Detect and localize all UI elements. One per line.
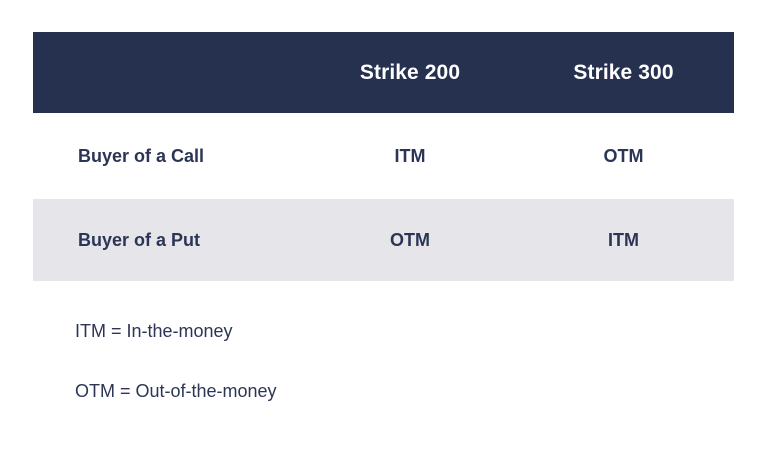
cell-call-strike-300: OTM: [513, 113, 734, 199]
legend-footnotes: ITM = In-the-money OTM = Out-of-the-mone…: [75, 322, 575, 400]
cell-put-strike-300: ITM: [513, 199, 734, 281]
column-header-strike-200: Strike 200: [307, 32, 513, 113]
footnote-otm-definition: OTM = Out-of-the-money: [75, 382, 575, 400]
footnote-itm-definition: ITM = In-the-money: [75, 322, 575, 340]
table-header-row: Strike 200 Strike 300: [33, 32, 734, 113]
cell-position-buyer-of-a-call: Buyer of a Call: [33, 113, 307, 199]
column-header-strike-300: Strike 300: [513, 32, 734, 113]
table-body: Buyer of a Call ITM OTM Buyer of a Put O…: [33, 113, 734, 281]
table-row: Buyer of a Call ITM OTM: [33, 113, 734, 199]
table-header: Strike 200 Strike 300: [33, 32, 734, 113]
cell-position-buyer-of-a-put: Buyer of a Put: [33, 199, 307, 281]
page-root: Strike 200 Strike 300 Buyer of a Call IT…: [0, 0, 768, 463]
options-moneyness-table-container: Strike 200 Strike 300 Buyer of a Call IT…: [33, 32, 734, 281]
options-moneyness-table: Strike 200 Strike 300 Buyer of a Call IT…: [33, 32, 734, 281]
column-header-position: [33, 32, 307, 113]
table-row: Buyer of a Put OTM ITM: [33, 199, 734, 281]
cell-call-strike-200: ITM: [307, 113, 513, 199]
cell-put-strike-200: OTM: [307, 199, 513, 281]
